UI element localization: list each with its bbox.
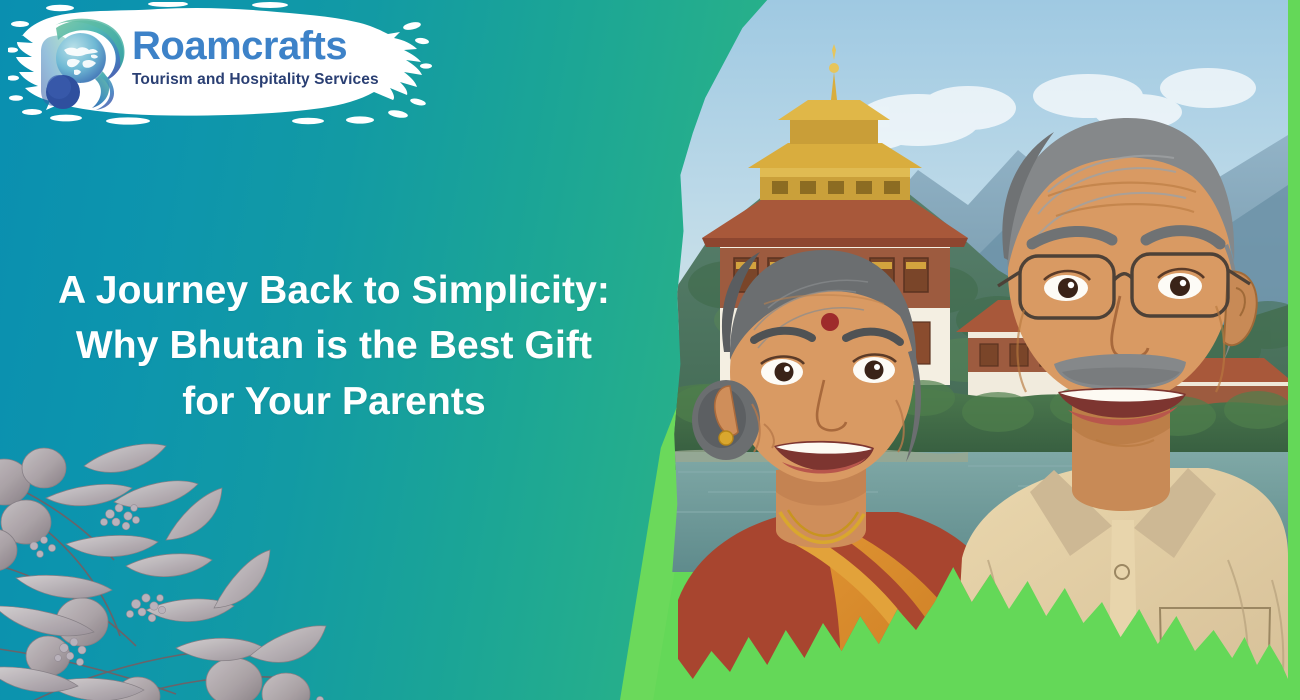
brand-name: Roamcrafts — [132, 26, 412, 66]
headline-line-3: for Your Parents — [18, 374, 650, 429]
headline-line-2: Why Bhutan is the Best Gift — [18, 318, 650, 373]
eucalyptus-foliage-corner — [0, 410, 336, 700]
brand-tagline: Tourism and Hospitality Services — [132, 71, 412, 89]
site-logo[interactable]: Roamcrafts Tourism and Hospitality Servi… — [8, 2, 433, 127]
headline-line-1: A Journey Back to Simplicity: — [18, 263, 650, 318]
blog-hero-banner: Roamcrafts Tourism and Hospitality Servi… — [0, 0, 1300, 700]
page-title: A Journey Back to Simplicity: Why Bhutan… — [0, 263, 668, 429]
roamcrafts-globe-r-icon — [34, 14, 134, 112]
logo-wordmark: Roamcrafts Tourism and Hospitality Servi… — [132, 26, 412, 89]
